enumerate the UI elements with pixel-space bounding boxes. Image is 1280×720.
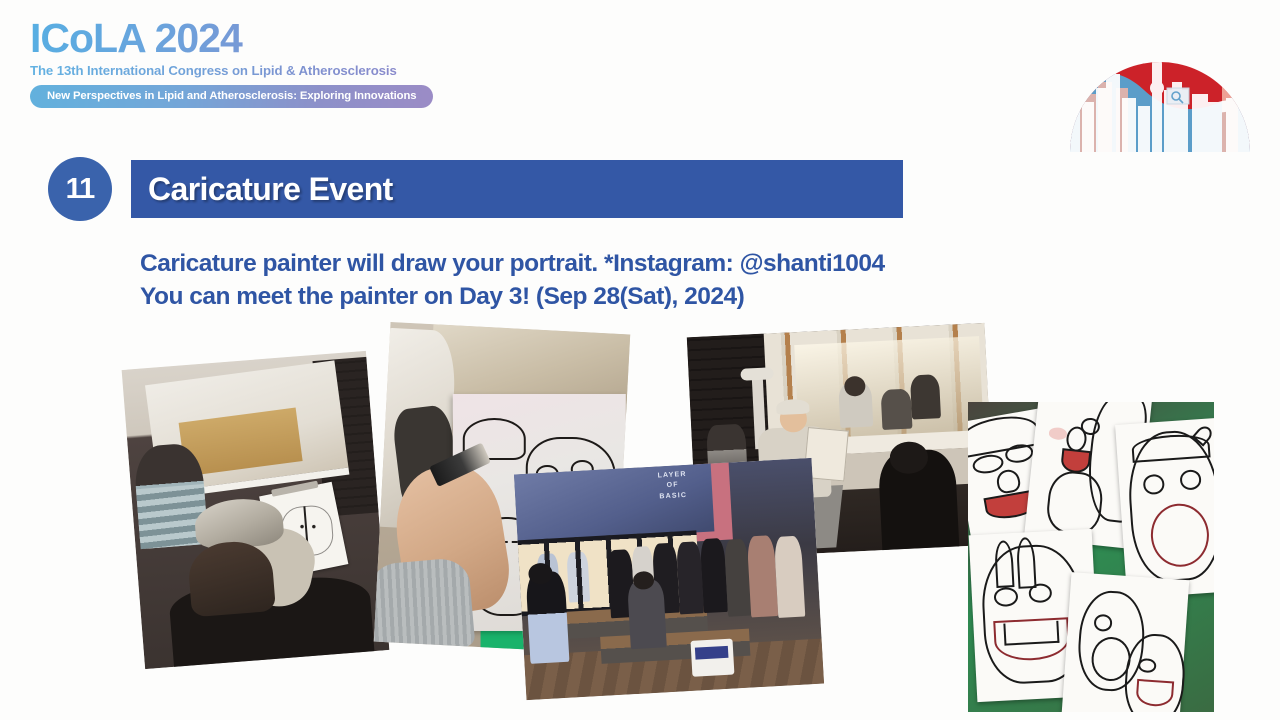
- event-description: Caricature painter will draw your portra…: [140, 248, 1140, 313]
- store-sign-text: LAYEROFBASIC: [621, 467, 724, 504]
- congress-logo-title: ICoLA 2024: [30, 18, 450, 60]
- collage-photo-artist-sketching: [122, 351, 390, 669]
- congress-tagline-pill: New Perspectives in Lipid and Atheroscle…: [30, 85, 433, 108]
- event-description-line-1: Caricature painter will draw your portra…: [140, 248, 1140, 281]
- page-title: Caricature Event: [148, 171, 393, 208]
- collage-photo-finished-caricatures: [968, 402, 1214, 712]
- collage-photo-street-crowd: LAYEROFBASIC: [514, 458, 824, 700]
- korea-taegeuk-seoul-skyline-icon: [1060, 2, 1260, 152]
- congress-logo-block: ICoLA 2024 The 13th International Congre…: [30, 18, 450, 108]
- congress-logo-subtitle: The 13th International Congress on Lipid…: [30, 64, 450, 79]
- event-description-line-2: You can meet the painter on Day 3! (Sep …: [140, 281, 1140, 314]
- section-number-badge: 11: [48, 157, 112, 221]
- section-title-bar: Caricature Event: [131, 160, 903, 218]
- photo-collage: LAYEROFBASIC: [0, 320, 1280, 720]
